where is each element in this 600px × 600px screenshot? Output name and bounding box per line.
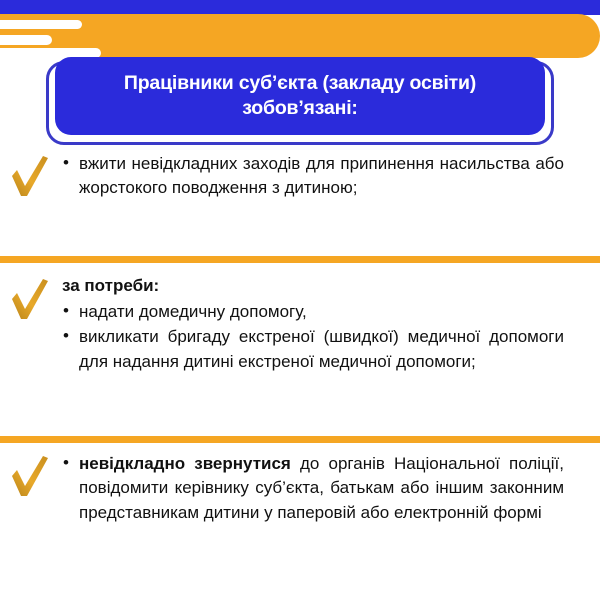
item-lead: невідкладно звернутися — [79, 454, 291, 473]
subheading: за потреби: — [62, 275, 564, 298]
section-if-needed: за потреби: надати домедичну допомогу, в… — [0, 275, 600, 375]
item-text: надати домедичну допомогу, — [79, 302, 307, 321]
check-column-2 — [0, 275, 62, 323]
body-column-1: вжити невідкладних заходів для припиненн… — [62, 152, 600, 202]
list-item: вжити невідкладних заходів для припиненн… — [62, 152, 564, 201]
header-decoration — [0, 0, 600, 60]
page-title: Працівники суб’єкта (закладу освіти) зоб… — [124, 71, 476, 121]
title-card: Працівники суб’єкта (закладу освіти) зоб… — [55, 57, 545, 135]
check-mark-icon — [10, 154, 52, 200]
title-line-2: зобов’язані: — [242, 97, 357, 119]
check-column-1 — [0, 152, 62, 200]
body-column-2: за потреби: надати домедичну допомогу, в… — [62, 275, 600, 375]
check-mark-icon — [10, 277, 52, 323]
item-text: викликати бригаду екстреної (швидкої) ме… — [79, 327, 564, 370]
check-mark-icon — [10, 454, 52, 500]
bullet-list-3: невідкладно звернутися до органів Націон… — [62, 452, 564, 525]
list-item: невідкладно звернутися до органів Націон… — [62, 452, 564, 525]
list-item: надати домедичну допомогу, — [62, 300, 564, 324]
white-accent-bar-2 — [0, 35, 52, 45]
bullet-list-2: надати домедичну допомогу, викликати бри… — [62, 300, 564, 374]
bullet-list-1: вжити невідкладних заходів для припиненн… — [62, 152, 564, 201]
infographic-slide: Працівники суб’єкта (закладу освіти) зоб… — [0, 0, 600, 600]
section-immediate-measures: вжити невідкладних заходів для припиненн… — [0, 152, 600, 202]
section-report-police: невідкладно звернутися до органів Націон… — [0, 452, 600, 526]
title-line-1: Працівники суб’єкта (закладу освіти) — [124, 72, 476, 94]
list-item: викликати бригаду екстреної (швидкої) ме… — [62, 325, 564, 374]
item-text: вжити невідкладних заходів для припиненн… — [79, 154, 564, 197]
section-divider-1 — [0, 256, 600, 263]
title-card-wrapper: Працівники суб’єкта (закладу освіти) зоб… — [46, 57, 554, 143]
top-blue-strip — [0, 0, 600, 15]
white-accent-bar-1 — [0, 20, 82, 29]
section-divider-2 — [0, 436, 600, 443]
check-column-3 — [0, 452, 62, 500]
body-column-3: невідкладно звернутися до органів Націон… — [62, 452, 600, 526]
